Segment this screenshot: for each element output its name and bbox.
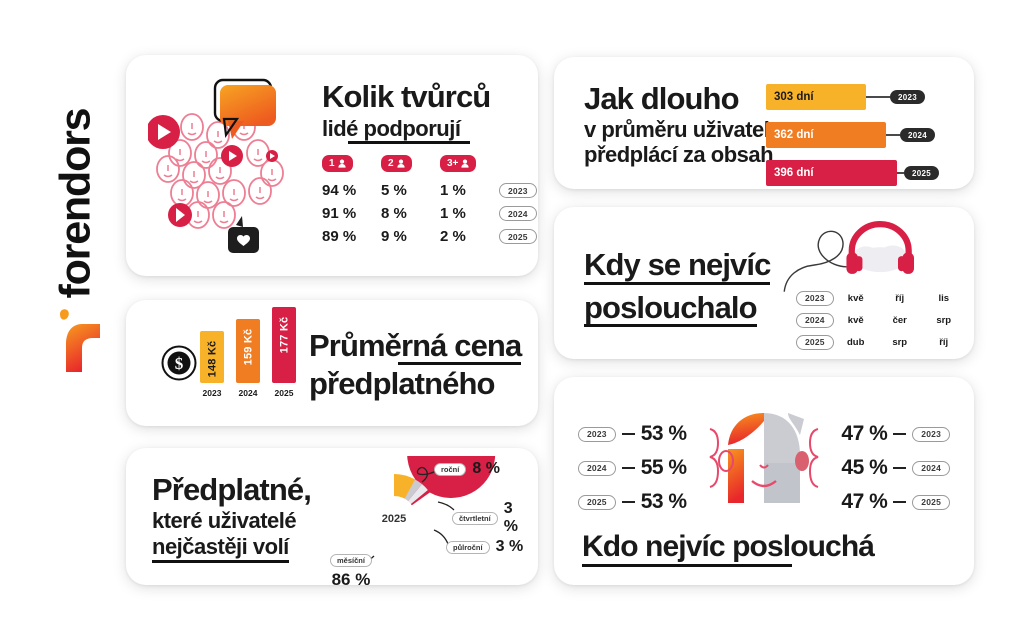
year-badge: 2025 xyxy=(912,495,950,510)
table-row: 91 % 8 % 1 % 2024 xyxy=(322,202,537,225)
creators-col-2: 2 xyxy=(381,155,412,172)
creators-cell: 91 % xyxy=(322,205,381,222)
month-label: lis xyxy=(922,293,966,304)
who-row-2023: 47 % 2023 xyxy=(841,417,950,451)
when-title-line2: poslouchalo xyxy=(584,290,757,325)
person-icon xyxy=(338,159,346,168)
who-value: 55 % xyxy=(641,456,687,480)
card-average-price: $ 148 Kč 2023 159 Kč 2024 177 Kč 2025 xyxy=(126,300,538,426)
card-subscription-plan: Předplatné, které uživatelé nejčastěji v… xyxy=(126,448,538,585)
price-titles: Průměrná cena předplatného xyxy=(309,330,524,399)
duration-bar-2025: 396 dní 2025 xyxy=(766,160,956,186)
who-row-2025: 47 % 2025 xyxy=(841,485,950,519)
year-badge: 2024 xyxy=(912,461,950,476)
creators-title-line2: lidé podporují xyxy=(322,116,460,141)
who-title: Kdo nejvíc poslouchá xyxy=(582,532,874,567)
card-who-listens: 2023 53 % 2024 55 % 2025 53 % xyxy=(554,377,974,585)
duration-bar-label: 303 dní xyxy=(766,84,866,110)
table-row: 2025 dub srp říj xyxy=(796,331,966,353)
donut-center-label: 2025 xyxy=(382,513,406,525)
card-subscription-duration: Jak dlouho v průměru uživatel předplácí … xyxy=(554,57,974,189)
price-bar-2024: 159 Kč 2024 xyxy=(236,319,260,398)
duration-bar-2023: 303 dní 2023 xyxy=(766,84,956,110)
month-label: čer xyxy=(878,315,922,326)
creators-cell: 5 % xyxy=(381,182,440,199)
who-value: 47 % xyxy=(841,490,887,514)
connector-line xyxy=(622,433,635,435)
year-badge: 2025 xyxy=(796,335,834,350)
year-badge: 2023 xyxy=(796,291,834,306)
who-row-2024: 2024 55 % xyxy=(578,451,687,485)
card-creators: Kolik tvůrců lidé podporují 1 2 3+ 94 % … xyxy=(126,55,538,276)
headphones-illustration xyxy=(766,217,966,297)
connector-line xyxy=(897,172,904,174)
creators-cell: 9 % xyxy=(381,228,440,245)
year-badge: 2023 xyxy=(499,183,537,198)
price-bar-label: 159 Kč xyxy=(242,329,254,366)
connector-line xyxy=(866,96,890,98)
connector-line xyxy=(893,501,906,503)
connector-line xyxy=(886,134,900,136)
table-row: 2023 kvě říj lis xyxy=(796,287,966,309)
price-bar-year: 2023 xyxy=(203,388,222,398)
brand-name: forendors xyxy=(52,39,101,299)
donut-callout-mesicni: měsíční 86 % xyxy=(330,550,372,590)
table-row: 89 % 9 % 2 % 2025 xyxy=(322,225,537,248)
creators-cell: 89 % xyxy=(322,228,381,245)
year-badge: 2024 xyxy=(796,313,834,328)
who-value: 53 % xyxy=(641,490,687,514)
brand-logo: forendors xyxy=(34,36,116,366)
month-label: srp xyxy=(922,315,966,326)
year-badge: 2025 xyxy=(499,229,537,244)
when-month-grid: 2023 kvě říj lis 2024 kvě čer srp 2025 d… xyxy=(796,287,966,353)
infographic-canvas: forendors xyxy=(0,0,1024,640)
creators-col-1: 1 xyxy=(322,155,353,172)
creators-cell: 1 % xyxy=(440,205,499,222)
forendors-mark-icon xyxy=(56,308,108,378)
year-badge: 2024 xyxy=(578,461,616,476)
connector-line xyxy=(622,501,635,503)
creators-titles: Kolik tvůrců lidé podporují xyxy=(322,81,522,144)
who-value: 45 % xyxy=(841,456,887,480)
duration-bar-2024: 362 dní 2024 xyxy=(766,122,956,148)
year-badge: 2023 xyxy=(890,90,925,104)
creators-cell: 8 % xyxy=(381,205,440,222)
duration-bar-chart: 303 dní 2023 362 dní 2024 396 dní 2025 xyxy=(766,84,956,186)
creators-table: 1 2 3+ 94 % 5 % 1 % 2023 91 % 8 % 1 % 20… xyxy=(322,153,537,248)
person-icon xyxy=(397,159,405,168)
year-badge: 2024 xyxy=(900,128,935,142)
who-row-2023: 2023 53 % xyxy=(578,417,687,451)
creators-table-header: 1 2 3+ xyxy=(322,153,537,172)
who-left-column: 2023 53 % 2024 55 % 2025 53 % xyxy=(578,417,687,519)
price-bar-2023: 148 Kč 2023 xyxy=(200,331,224,398)
donut-callout-rocni: roční 8 % xyxy=(434,460,500,478)
price-bar-chart: 148 Kč 2023 159 Kč 2024 177 Kč 2025 xyxy=(200,307,296,398)
table-row: 94 % 5 % 1 % 2023 xyxy=(322,179,537,202)
who-value: 53 % xyxy=(641,422,687,446)
duration-title-line3: předplácí za obsah xyxy=(584,143,779,167)
month-label: říj xyxy=(922,337,966,348)
year-badge: 2025 xyxy=(578,495,616,510)
price-title-line1: Průměrná cena xyxy=(309,328,521,363)
creators-cell: 94 % xyxy=(322,182,381,199)
split-face-icon xyxy=(696,405,832,521)
price-bar-2025: 177 Kč 2025 xyxy=(272,307,296,398)
month-label: dub xyxy=(834,337,878,348)
year-badge: 2024 xyxy=(499,206,537,221)
when-titles: Kdy se nejvíc poslouchalo xyxy=(584,249,784,327)
creators-col-3plus: 3+ xyxy=(440,155,476,172)
card-when-listened: Kdy se nejvíc poslouchalo 202 xyxy=(554,207,974,359)
who-row-2025: 2025 53 % xyxy=(578,485,687,519)
duration-title-line2: v průměru uživatel xyxy=(584,118,779,142)
month-label: srp xyxy=(878,337,922,348)
price-title-line2: předplatného xyxy=(309,368,524,400)
creators-cell: 1 % xyxy=(440,182,499,199)
table-row: 2024 kvě čer srp xyxy=(796,309,966,331)
month-label: říj xyxy=(878,293,922,304)
duration-bar-label: 396 dní xyxy=(766,160,897,186)
year-badge: 2023 xyxy=(578,427,616,442)
svg-text:$: $ xyxy=(175,354,184,373)
connector-line xyxy=(622,467,635,469)
donut-callout-pulrocni: půlroční 3 % xyxy=(446,538,523,556)
duration-titles: Jak dlouho v průměru uživatel předplácí … xyxy=(584,83,779,167)
month-label: kvě xyxy=(834,315,878,326)
plan-donut-chart: 2025 roční 8 % čtvrtletní 3 % půlroční xyxy=(334,456,530,580)
year-badge: 2023 xyxy=(912,427,950,442)
price-bar-year: 2025 xyxy=(275,388,294,398)
cable-icon xyxy=(784,231,846,291)
when-title-line1: Kdy se nejvíc xyxy=(584,247,770,282)
plan-title-line3: nejčastěji volí xyxy=(152,534,289,559)
price-bar-year: 2024 xyxy=(239,388,258,398)
speech-bubble-icon xyxy=(215,80,276,139)
duration-bar-label: 362 dní xyxy=(766,122,886,148)
person-icon xyxy=(461,159,469,168)
connector-line xyxy=(893,433,906,435)
price-bar-label: 148 Kč xyxy=(206,341,218,378)
plan-title-line2: které uživatelé xyxy=(152,509,342,533)
who-right-column: 47 % 2023 45 % 2024 47 % 2025 xyxy=(841,417,950,519)
creators-cell: 2 % xyxy=(440,228,499,245)
month-label: kvě xyxy=(834,293,878,304)
creators-illustration xyxy=(148,75,308,260)
who-value: 47 % xyxy=(841,422,887,446)
creators-title-line1: Kolik tvůrců xyxy=(322,81,522,113)
connector-line xyxy=(893,467,906,469)
who-row-2024: 45 % 2024 xyxy=(841,451,950,485)
price-bar-label: 177 Kč xyxy=(278,317,290,354)
plan-titles: Předplatné, které uživatelé nejčastěji v… xyxy=(152,474,342,563)
duration-title-line1: Jak dlouho xyxy=(584,83,779,115)
donut-callout-ctvrtletni: čtvrtletní 3 % xyxy=(452,500,530,536)
plan-title-line1: Předplatné, xyxy=(152,474,342,506)
dollar-coin-icon: $ xyxy=(160,344,198,382)
year-badge: 2025 xyxy=(904,166,939,180)
